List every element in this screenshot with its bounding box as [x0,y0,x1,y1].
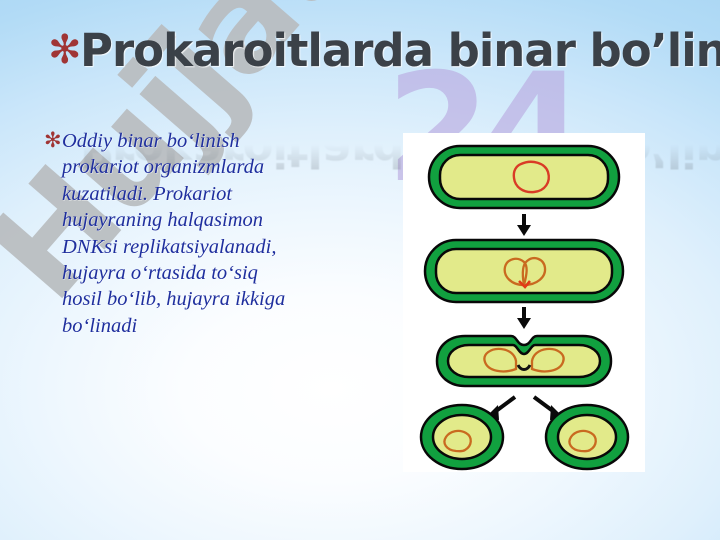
body-bullet-asterisk-icon: ✻ [44,130,62,151]
stage-2-cell [425,240,623,302]
stage-4a-daughter-cell-left [421,405,503,469]
stage-4b-cytoplasm [558,415,616,459]
stage-4b-daughter-cell-right [546,405,628,469]
binary-fission-diagram-panel [403,133,645,472]
title-bullet-asterisk-icon: ✻ [48,30,82,70]
slide-canvas: 24 Hujjat ✻ Prokaroitlarda binar bo’lini… [0,0,720,540]
stage-1-cell [429,146,619,208]
body-line: DNKsi replikatsiyalanadi, [62,234,392,260]
body-text: Oddiy binar bo‘linish prokariot organizm… [62,128,392,339]
slide-title: ✻ Prokaroitlarda binar bo’linish Prokaro… [40,16,700,104]
arrow-down-2-icon [517,307,531,329]
body-line: kuzatiladi. Prokariot [62,181,392,207]
stage-4a-cytoplasm [433,415,491,459]
body-line: bo‘linadi [62,313,392,339]
stage-3-cell [437,336,611,386]
body-line: hujayraning halqasimon [62,207,392,233]
body-line: prokariot organizmlarda [62,154,392,180]
body-line: Oddiy binar bo‘linish [62,128,392,154]
body-line: hosil bo‘lib, hujayra ikkiga [62,286,392,312]
body-line: hujayra o‘rtasida to‘siq [62,260,392,286]
arrow-down-1-icon [517,214,531,236]
title-text: Prokaroitlarda binar bo’linish [80,24,720,77]
binary-fission-svg [403,133,645,472]
